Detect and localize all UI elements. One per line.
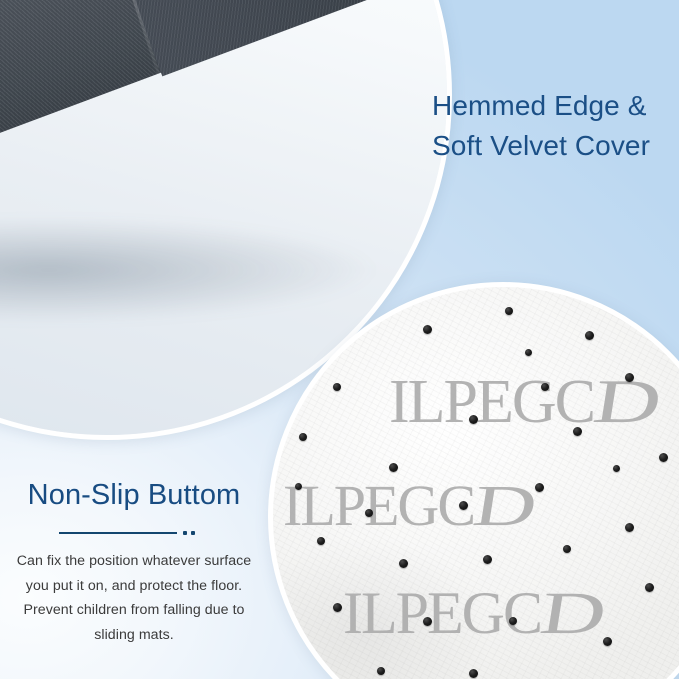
brand-watermark-1: ILPEGCD [389, 367, 637, 438]
anti-slip-dot [505, 307, 513, 315]
photo-non-slip-bottom: ILPEGCD ILPEGCD ILPEGCD [268, 282, 679, 679]
feature-heading-hemmed-edge: Hemmed Edge & Soft Velvet Cover [432, 86, 679, 167]
anti-slip-dot [573, 427, 582, 436]
anti-slip-dot [295, 483, 302, 490]
anti-slip-dot [625, 523, 634, 532]
heading-divider [59, 527, 209, 539]
heading-line-2: Soft Velvet Cover [432, 126, 679, 166]
anti-slip-dot [613, 465, 620, 472]
anti-slip-dot [423, 617, 432, 626]
divider-line [59, 532, 177, 534]
anti-slip-dot [603, 637, 612, 646]
divider-dot-2 [191, 531, 195, 535]
infographic-canvas: Hemmed Edge & Soft Velvet Cover ILPEGCD … [0, 0, 679, 679]
anti-slip-dot [459, 501, 468, 510]
anti-slip-dot [469, 669, 478, 678]
body-line-4: sliding mats. [8, 623, 260, 648]
anti-slip-dot [509, 617, 517, 625]
feature-block-non-slip: Non-Slip Buttom Can fix the position wha… [8, 478, 260, 648]
anti-slip-dot [585, 331, 594, 340]
anti-slip-dot [525, 349, 532, 356]
brand-watermark-2: ILPEGCD [283, 472, 514, 539]
body-line-3: Prevent children from falling due to [8, 598, 260, 623]
brand-watermark-3: ILPEGCD [343, 579, 582, 648]
anti-slip-dot [675, 347, 679, 355]
anti-slip-dot [645, 583, 654, 592]
anti-slip-dot [659, 453, 668, 462]
anti-slip-dot [389, 463, 398, 472]
anti-slip-dot [469, 415, 478, 424]
anti-slip-dot [365, 509, 373, 517]
anti-slip-dot [625, 373, 634, 382]
anti-slip-dot [333, 383, 341, 391]
anti-slip-dot [535, 483, 544, 492]
heading-line-1: Hemmed Edge & [432, 86, 679, 126]
anti-slip-dot [377, 667, 385, 675]
body-line-2: you put it on, and protect the floor. [8, 574, 260, 599]
feature-body-non-slip: Can fix the position whatever surface yo… [8, 549, 260, 648]
divider-dot-1 [183, 531, 187, 535]
feature-heading-non-slip: Non-Slip Buttom [8, 478, 260, 513]
anti-slip-dot [299, 433, 307, 441]
anti-slip-dot [333, 603, 342, 612]
body-line-1: Can fix the position whatever surface [8, 549, 260, 574]
anti-slip-dot [483, 555, 492, 564]
anti-slip-dot [563, 545, 571, 553]
anti-slip-dot [423, 325, 432, 334]
anti-slip-dot [541, 383, 549, 391]
anti-slip-dot [317, 537, 325, 545]
anti-slip-dot [399, 559, 408, 568]
